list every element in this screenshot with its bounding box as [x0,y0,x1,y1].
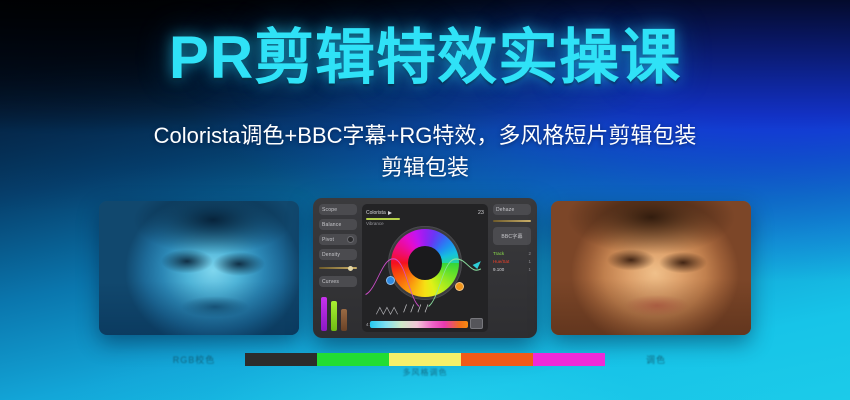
swatch-list [245,353,605,366]
right-divider [493,220,531,222]
right-row-numeric-label: 9.100 [493,267,504,272]
page-title: PR剪辑特效实操课 [0,26,850,89]
right-row-numeric[interactable]: 9.100 1 [493,267,531,272]
panel-right-column: Dehaze BBC字幕 Track 2 Hue/Sat 1 9.100 1 [493,204,531,332]
panel-header-value: 23 [478,210,484,216]
exposure-slider[interactable] [319,264,357,272]
panel-header: Colorista 23 [366,208,484,217]
wheel-center-hub [408,246,442,280]
panel-button-scope[interactable]: Scope [319,204,357,215]
right-value-rows: Track 2 Hue/Sat 1 9.100 1 [493,251,531,272]
panel-header-title: Colorista [366,210,386,216]
panel-button-pivot-label: Pivot [322,237,334,243]
cool-graded-portrait [99,201,299,335]
showcase-row: Scope Balance Pivot Density Curves [0,198,850,338]
swatch-black [245,353,317,366]
magenta-level-bar [321,297,327,331]
panel-button-dehaze[interactable]: Dehaze [493,204,531,215]
before-photo [99,201,299,335]
panel-button-density[interactable]: Density [319,249,357,260]
wheel-handle-orange[interactable] [455,282,464,291]
panel-center-column: Colorista 23 Vibrance [362,204,488,332]
toggle-dot-icon[interactable] [347,236,354,243]
swatch-orange [461,353,533,366]
strip-caption: 多风格调色 [0,367,850,378]
panel-header-sub: Vibrance [366,221,484,226]
subtitle-line-2: 剪辑包装 [0,152,850,184]
swatch-magenta [533,353,605,366]
right-row-numeric-value: 1 [528,267,531,272]
page-subtitle: Colorista调色+BBC字幕+RG特效，多风格短片剪辑包装 剪辑包装 [0,120,850,184]
swatch-green [317,353,389,366]
right-row-huesat-value: 1 [528,259,531,264]
hue-color-wheel[interactable] [388,226,462,300]
warm-graded-portrait [551,201,751,335]
right-row-huesat[interactable]: Hue/Sat 1 [493,259,531,264]
swatch-yellow [389,353,461,366]
level-bars [319,293,357,331]
panel-button-curves[interactable]: Curves [319,276,357,287]
subtitle-line-1: Colorista调色+BBC字幕+RG特效，多风格短片剪辑包装 [154,123,697,148]
right-row-track-value: 2 [528,251,531,256]
panel-button-pivot[interactable]: Pivot [319,234,357,245]
right-row-track-label: Track [493,251,504,256]
strip-right-label: 调色 [621,353,691,366]
wheel-handle-blue[interactable] [386,276,395,285]
after-photo [551,201,751,335]
right-row-track[interactable]: Track 2 [493,251,531,256]
panel-button-bbc-subtitle[interactable]: BBC字幕 [493,227,531,245]
brown-level-bar [341,309,347,331]
course-poster: PR剪辑特效实操课 Colorista调色+BBC字幕+RG特效，多风格短片剪辑… [0,0,850,400]
header-underline [366,218,400,220]
panel-left-column: Scope Balance Pivot Density Curves [319,204,357,332]
tone-gradient-bar[interactable] [370,321,468,328]
right-row-huesat-label: Hue/Sat [493,259,509,264]
color-grading-panel[interactable]: Scope Balance Pivot Density Curves [313,198,537,338]
strip-left-label: RGB校色 [159,353,229,366]
gradient-settings-button[interactable] [470,318,483,329]
slider-knob[interactable] [348,266,353,271]
green-level-bar [331,301,337,331]
panel-button-balance[interactable]: Balance [319,219,357,230]
play-icon[interactable] [388,211,392,215]
panel-header-left: Colorista [366,210,392,216]
